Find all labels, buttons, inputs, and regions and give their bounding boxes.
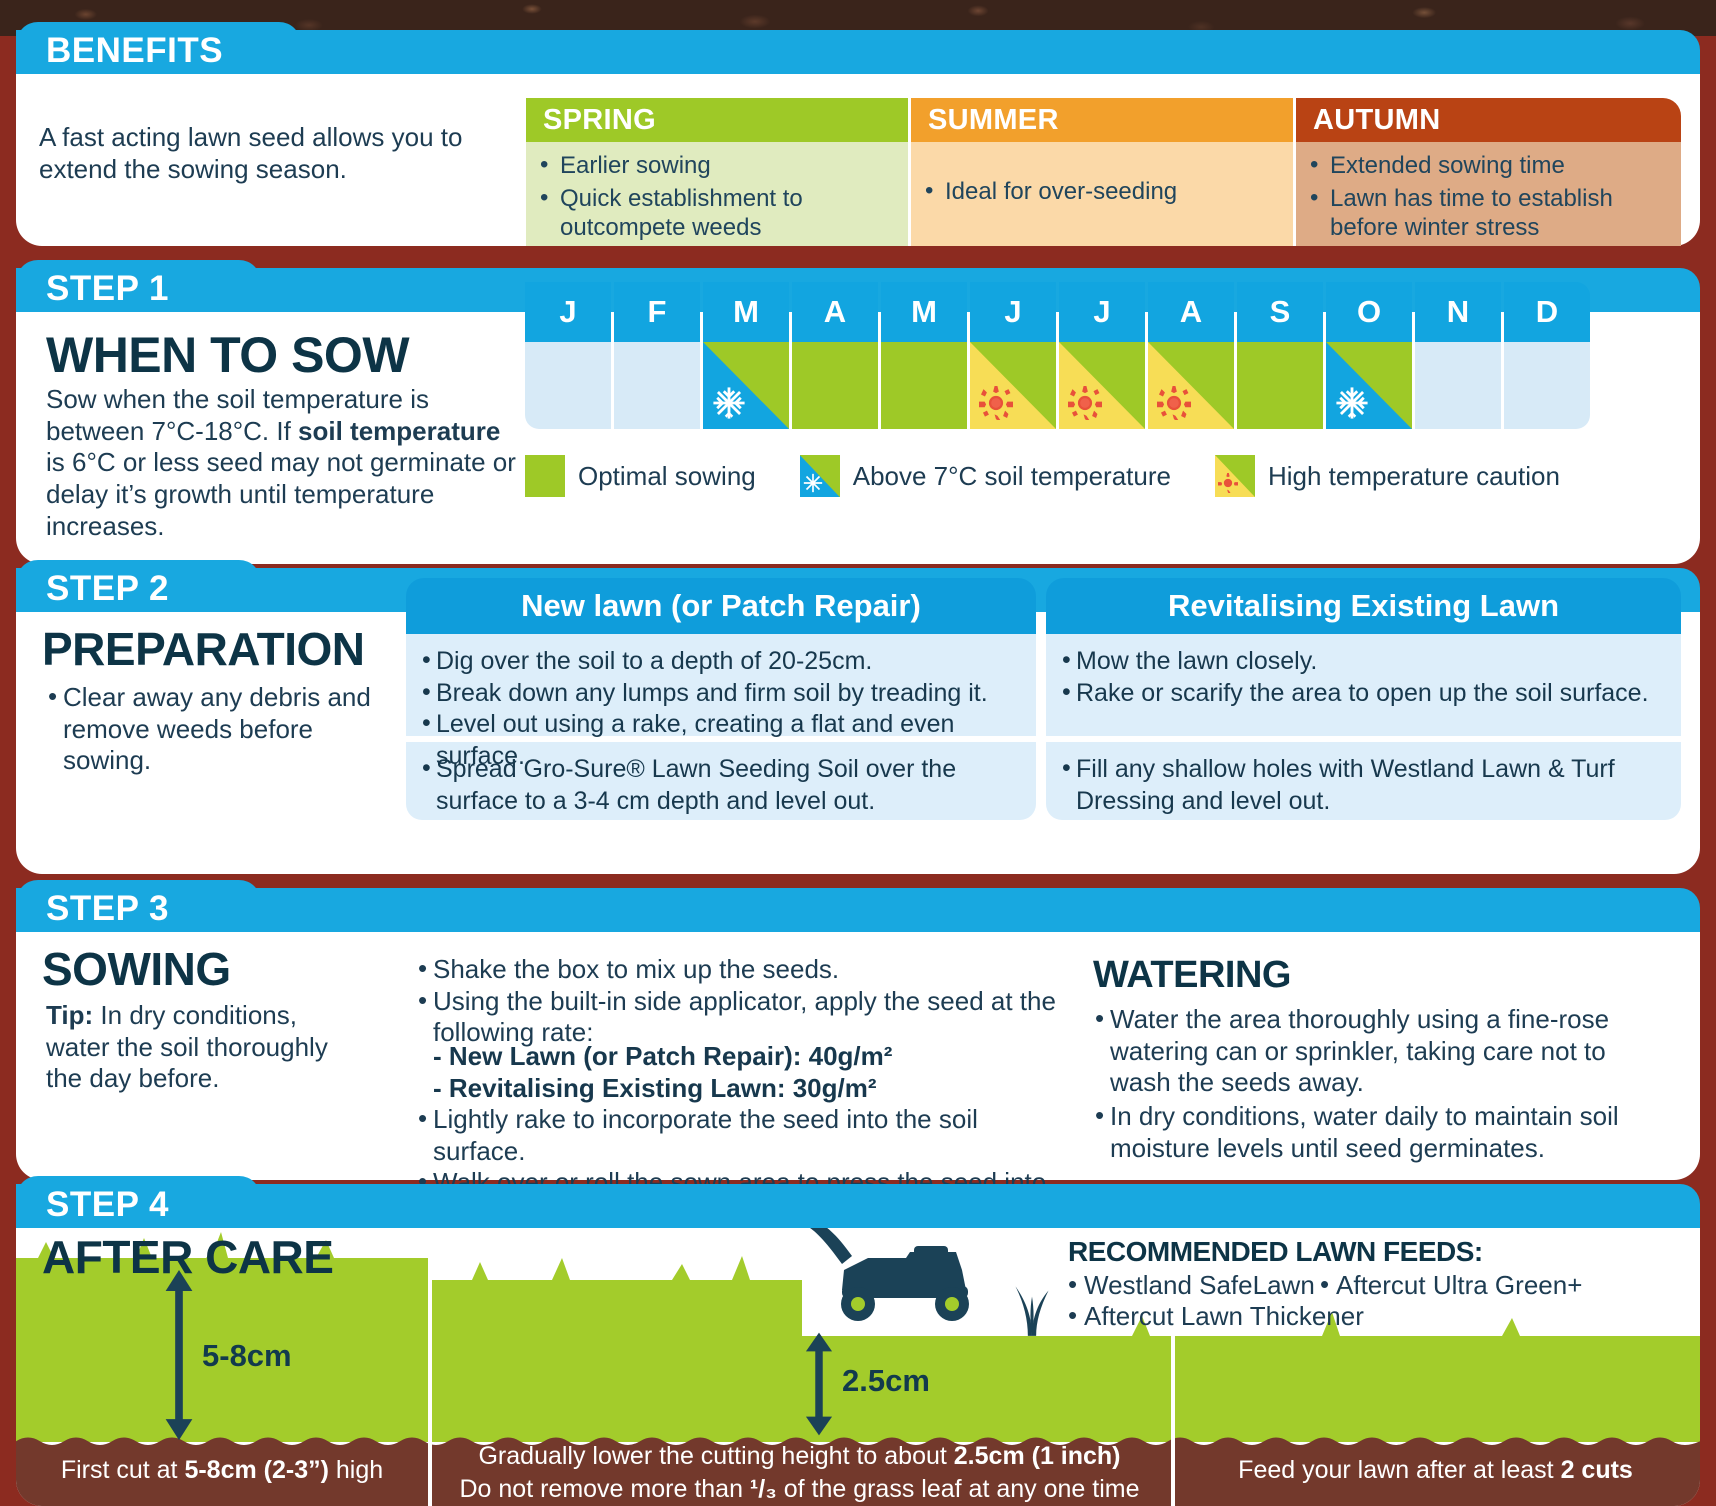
month-cell-apr: A: [792, 282, 878, 429]
caption-right: Feed your lawn after at least 2 cuts: [1171, 1456, 1700, 1485]
season-summer-body: Ideal for over-seeding: [911, 142, 1293, 246]
season-spring-body: Earlier sowing Quick establishment to ou…: [526, 142, 908, 246]
step3-instructions: Shake the box to mix up the seeds. Using…: [416, 954, 1066, 1049]
season-autumn: AUTUMN Extended sowing time Lawn has tim…: [1296, 98, 1681, 246]
step2-card: PREPARATION Clear away any debris and re…: [16, 612, 1700, 874]
legend-label-hot: High temperature caution: [1268, 461, 1560, 492]
step1-card: WHEN TO SOW Sow when the soil temperatur…: [16, 312, 1700, 564]
step4-title: AFTER CARE: [42, 1230, 333, 1284]
dimension-label-mid: 2.5cm: [842, 1363, 930, 1399]
list-item: Water the area thoroughly using a fine-r…: [1093, 1004, 1653, 1099]
step3-tip-bold: Tip:: [46, 1000, 93, 1030]
panel-revitalising-header: Revitalising Existing Lawn: [1046, 578, 1681, 634]
benefits-intro: A fast acting lawn seed allows you to ex…: [39, 122, 469, 185]
watering-bullets: Water the area thoroughly using a fine-r…: [1093, 1004, 1653, 1165]
legend-swatch-hot: [1215, 455, 1255, 497]
step1-tab-label: STEP 1: [46, 269, 169, 309]
sun-icon: [1068, 386, 1102, 420]
month-state-optimal: [881, 342, 967, 429]
list-item: Dig over the soil to a depth of 20-25cm.: [420, 646, 1022, 678]
calendar-legend: Optimal sowing Above 7°C soil temperatur…: [525, 455, 1604, 497]
month-label: J: [525, 282, 611, 342]
list-item: Shake the box to mix up the seeds.: [416, 954, 1066, 986]
sun-icon: [1157, 386, 1191, 420]
step3-title: SOWING: [42, 942, 231, 996]
feed-item-2: •Aftercut Ultra Green+: [1320, 1270, 1582, 1301]
panel-new-lawn: New lawn (or Patch Repair) Dig over the …: [406, 578, 1036, 820]
panel-new-lawn-block1: Dig over the soil to a depth of 20-25cm.…: [406, 634, 1036, 736]
step1-description: Sow when the soil temperature is between…: [46, 384, 516, 543]
month-label: J: [1059, 282, 1145, 342]
month-state-above7c: [1326, 342, 1412, 429]
month-cell-nov: N: [1415, 282, 1501, 429]
list-item: Lightly rake to incorporate the seed int…: [416, 1104, 1076, 1167]
list-item: Extended sowing time: [1308, 152, 1669, 181]
list-item: Fill any shallow holes with Westland Law…: [1060, 754, 1667, 817]
rate-new-lawn: - New Lawn (or Patch Repair): 40g/m²: [433, 1041, 1073, 1073]
month-cell-sep: S: [1237, 282, 1323, 429]
list-item: Spread Gro-Sure® Lawn Seeding Soil over …: [420, 754, 1022, 817]
month-label: D: [1504, 282, 1590, 342]
list-item: Using the built-in side applicator, appl…: [416, 986, 1066, 1049]
step4-tab: STEP 4: [16, 1176, 261, 1234]
month-cell-may: M: [881, 282, 967, 429]
list-item: In dry conditions, water daily to mainta…: [1093, 1101, 1653, 1164]
month-label: A: [792, 282, 878, 342]
month-state-hot: [1148, 342, 1234, 429]
month-state-optimal: [792, 342, 878, 429]
sowing-calendar: J F M A: [525, 282, 1590, 429]
season-autumn-body: Extended sowing time Lawn has time to es…: [1296, 142, 1681, 246]
infographic-page: BENEFITS A fast acting lawn seed allows …: [0, 0, 1716, 1506]
benefits-tab-label: BENEFITS: [46, 31, 223, 71]
month-cell-mar: M: [703, 282, 789, 429]
list-item: Mow the lawn closely.: [1060, 646, 1667, 678]
month-cell-jan: J: [525, 282, 611, 429]
recommended-feeds: RECOMMENDED LAWN FEEDS: •Westland SafeLa…: [1068, 1236, 1688, 1332]
month-label: N: [1415, 282, 1501, 342]
list-item: Rake or scarify the area to open up the …: [1060, 678, 1667, 710]
season-autumn-header: AUTUMN: [1296, 98, 1681, 142]
step2-tab: STEP 2: [16, 560, 261, 618]
step3-card: SOWING Tip: In dry conditions, water the…: [16, 932, 1700, 1180]
list-item: Quick establishment to outcompete weeds: [538, 185, 896, 243]
step2-tab-label: STEP 2: [46, 569, 169, 609]
month-state-empty: [1504, 342, 1590, 429]
month-state-optimal: [1237, 342, 1323, 429]
dimension-arrow-mid: [805, 1328, 833, 1440]
panel-new-lawn-block2: Spread Gro-Sure® Lawn Seeding Soil over …: [406, 742, 1036, 820]
step2-title: PREPARATION: [42, 622, 364, 676]
month-cell-jul: J: [1059, 282, 1145, 429]
month-state-empty: [1415, 342, 1501, 429]
step3-tab: STEP 3: [16, 880, 261, 938]
month-cell-jun: J: [970, 282, 1056, 429]
snowflake-icon: [712, 386, 746, 420]
panel-revitalising-block2: Fill any shallow holes with Westland Law…: [1046, 742, 1681, 820]
dimension-arrow-left: [164, 1270, 194, 1442]
month-cell-aug: A: [1148, 282, 1234, 429]
legend-label-above7c: Above 7°C soil temperature: [853, 461, 1171, 492]
step1-text-bold: soil temperature: [298, 416, 500, 446]
rate-revitalising: - Revitalising Existing Lawn: 30g/m²: [433, 1073, 1073, 1105]
legend-swatch-optimal: [525, 455, 565, 497]
month-state-hot: [970, 342, 1056, 429]
benefits-tab: BENEFITS: [16, 22, 301, 80]
step1-title: WHEN TO SOW: [46, 326, 409, 384]
season-summer: SUMMER Ideal for over-seeding: [911, 98, 1293, 246]
list-item: Break down any lumps and firm soil by tr…: [420, 678, 1022, 710]
benefits-card: A fast acting lawn seed allows you to ex…: [16, 74, 1700, 246]
month-label: S: [1237, 282, 1323, 342]
step3-tabstrip: [16, 888, 1700, 932]
feeds-title: RECOMMENDED LAWN FEEDS:: [1068, 1236, 1688, 1268]
month-state-empty: [525, 342, 611, 429]
sun-icon: [979, 386, 1013, 420]
month-label: M: [703, 282, 789, 342]
month-cell-oct: O: [1326, 282, 1412, 429]
month-label: F: [614, 282, 700, 342]
panel-revitalising-block1: Mow the lawn closely. Rake or scarify th…: [1046, 634, 1681, 736]
legend-label-optimal: Optimal sowing: [578, 461, 756, 492]
panel-new-lawn-header: New lawn (or Patch Repair): [406, 578, 1036, 634]
list-item: Ideal for over-seeding: [923, 178, 1281, 207]
month-state-empty: [614, 342, 700, 429]
season-summer-header: SUMMER: [911, 98, 1293, 142]
list-item: Lawn has time to establish before winter…: [1308, 185, 1669, 243]
step1-tab: STEP 1: [16, 260, 261, 318]
legend-swatch-above7c: [800, 455, 840, 497]
dimension-label-left: 5-8cm: [202, 1338, 292, 1374]
sun-icon: [1218, 473, 1238, 493]
list-item: Clear away any debris and remove weeds b…: [46, 682, 376, 777]
step3-tip: Tip: In dry conditions, water the soil t…: [46, 1000, 366, 1095]
step4-tab-label: STEP 4: [46, 1185, 169, 1225]
panel-revitalising: Revitalising Existing Lawn Mow the lawn …: [1046, 578, 1681, 820]
season-spring: SPRING Earlier sowing Quick establishmen…: [526, 98, 908, 246]
step3-rates: - New Lawn (or Patch Repair): 40g/m² - R…: [433, 1041, 1073, 1104]
watering-title: WATERING: [1093, 954, 1291, 997]
caption-left: First cut at 5-8cm (2-3”) high: [16, 1456, 428, 1485]
step4-tabstrip: [16, 1184, 1700, 1228]
month-label: M: [881, 282, 967, 342]
snowflake-icon: [803, 473, 823, 493]
month-label: O: [1326, 282, 1412, 342]
snowflake-icon: [1335, 386, 1369, 420]
caption-middle: Gradually lower the cutting height to ab…: [428, 1440, 1171, 1505]
month-cell-feb: F: [614, 282, 700, 429]
step1-text-c: is 6°C or less seed may not germinate or…: [46, 447, 516, 540]
month-state-hot: [1059, 342, 1145, 429]
month-label: A: [1148, 282, 1234, 342]
feed-item-3: •Aftercut Lawn Thickener: [1068, 1301, 1688, 1332]
month-label: J: [970, 282, 1056, 342]
list-item: Earlier sowing: [538, 152, 896, 181]
lawn-mower-icon: [806, 1228, 1006, 1338]
season-spring-header: SPRING: [526, 98, 908, 142]
step2-bullets: Clear away any debris and remove weeds b…: [46, 682, 376, 777]
step3-tab-label: STEP 3: [46, 889, 169, 929]
step4-card: AFTER CARE RECOMMENDED LAWN FEEDS: •West…: [16, 1228, 1700, 1506]
feed-item-1: •Westland SafeLawn: [1068, 1270, 1320, 1301]
grass-tuft-icon: [1001, 1276, 1063, 1338]
month-state-above7c: [703, 342, 789, 429]
month-cell-dec: D: [1504, 282, 1590, 429]
